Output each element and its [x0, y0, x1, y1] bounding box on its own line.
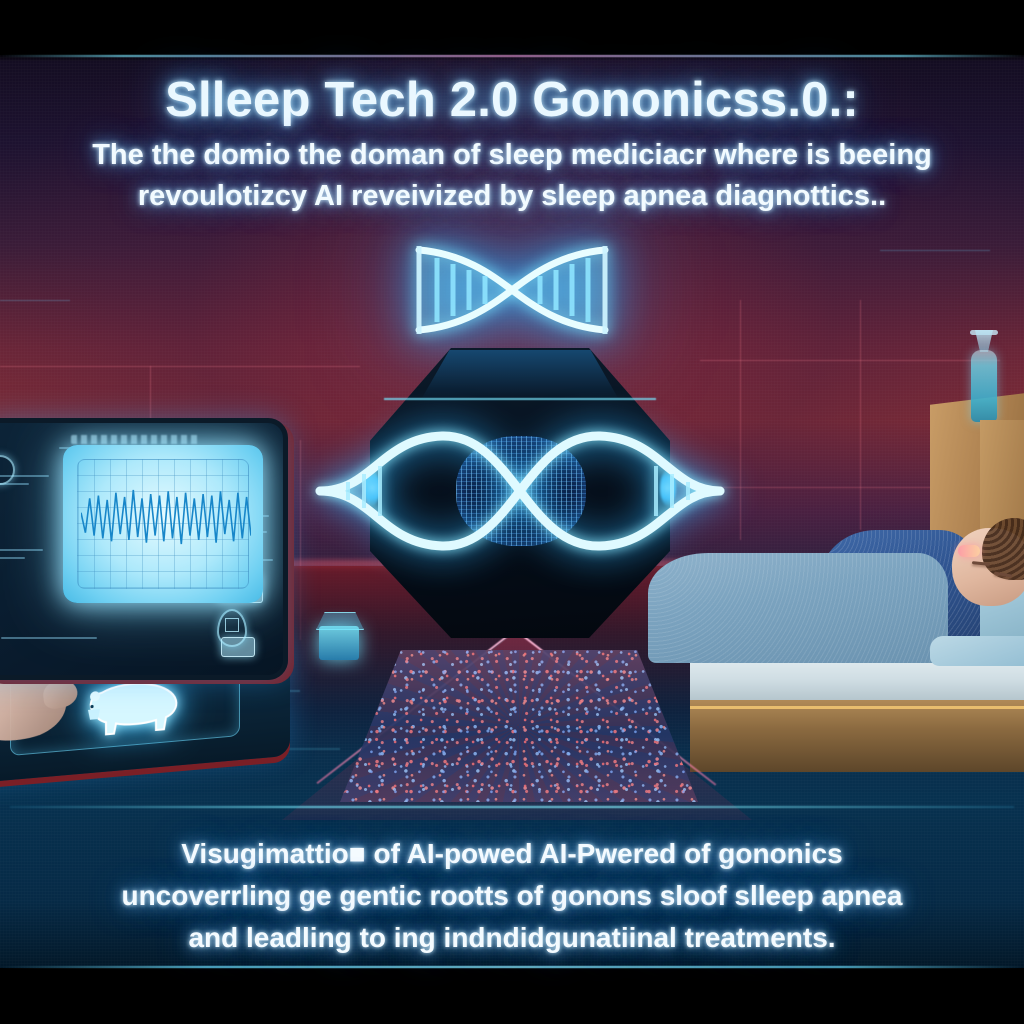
bg-grid-line — [0, 366, 360, 367]
vial-neck — [975, 330, 993, 352]
holographic-genomics-hexagon-device[interactable] — [370, 348, 670, 638]
location-pin-icon[interactable] — [217, 609, 247, 647]
indicator-ring-icon — [0, 455, 15, 485]
hud-bar — [0, 557, 25, 559]
bottom-neon-hairline — [0, 966, 1024, 968]
hud-bar — [1, 637, 97, 639]
top-neon-hairline — [0, 55, 1024, 57]
caption-line-1: Visugimattio■ of AI-powed AI-Pwered of g… — [0, 838, 1024, 870]
dna-double-helix-icon — [405, 240, 620, 340]
monitor-screen — [63, 445, 263, 603]
bg-grid-line — [0, 300, 70, 301]
top-letterbox — [0, 0, 1024, 55]
sleep-apnea-waveform-monitor[interactable] — [0, 418, 288, 680]
caption-line-3: and leadling to ing indndidgunatiinal tr… — [0, 922, 1024, 954]
hex-top-seam — [384, 398, 656, 400]
page-title: Slleep Tech 2.0 Gononicss.0.: — [0, 72, 1024, 128]
glowing-data-cube — [316, 612, 362, 662]
subtitle-line-1: The the domio the doman of sleep medicia… — [0, 139, 1024, 172]
monitor-title-bar — [71, 435, 201, 444]
sleeping-patient-arm — [930, 636, 1024, 666]
blue-reagent-vial — [962, 330, 1006, 430]
subtitle-line-2: revoulotizcy AI reveivized by sleep apne… — [0, 180, 1024, 213]
caption-line-2: uncoverrling ge gentic rootts of gonons … — [0, 880, 1024, 912]
bg-grid-line — [880, 250, 990, 251]
cube-body — [319, 626, 359, 660]
hud-bar — [0, 549, 43, 551]
respiration-waveform-chart — [81, 487, 251, 547]
bg-grid-line — [860, 300, 861, 530]
bottom-letterbox — [0, 968, 1024, 1024]
large-dna-helix-hologram — [312, 426, 728, 556]
illustration-canvas: Slleep Tech 2.0 Gononicss.0.: The the do… — [0, 0, 1024, 1024]
bg-grid-line — [700, 360, 1000, 361]
hex-top-facet — [422, 350, 618, 398]
dataset-plate-sheen — [340, 650, 698, 802]
floor-edge-neon-line — [10, 806, 1014, 808]
bg-grid-line — [740, 300, 741, 540]
vial-body — [971, 350, 997, 422]
forehead-sensor-patch — [958, 545, 980, 557]
